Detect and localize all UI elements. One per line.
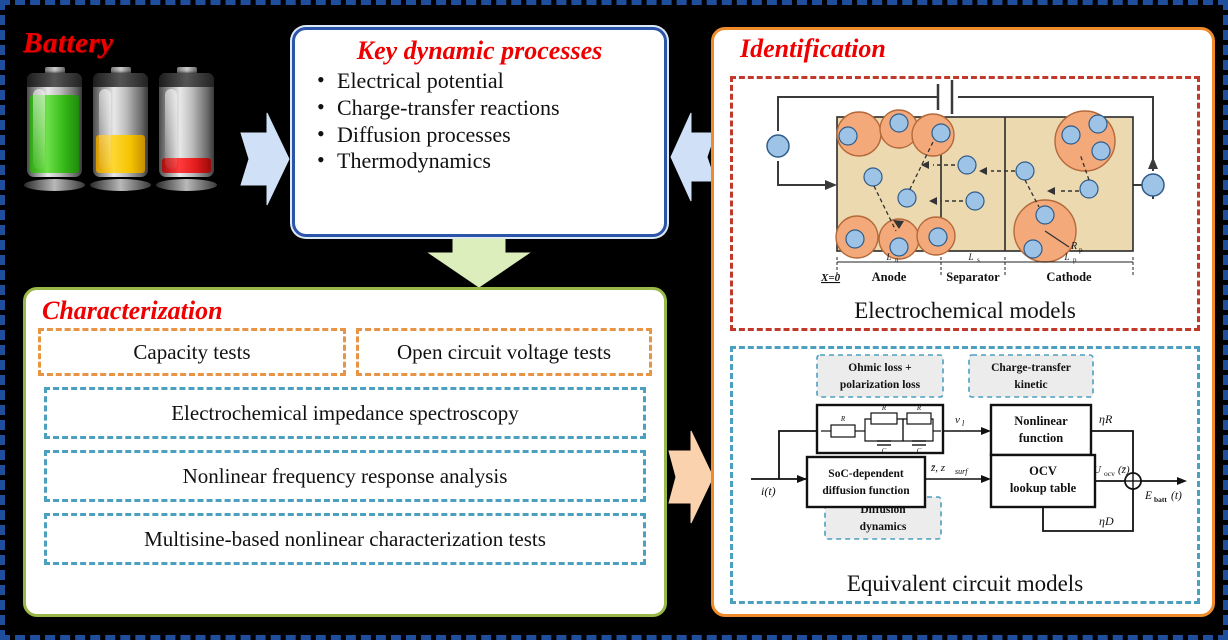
capacity-tests-box: Capacity tests: [38, 328, 346, 376]
battery-base: [156, 179, 217, 191]
equivalent-circuit-diagram: Ohmic loss + polarization loss Charge-tr…: [733, 349, 1197, 555]
list-item: Diffusion processes: [317, 122, 658, 149]
arrow-processes-to-characterization: [423, 237, 535, 289]
svg-text:(z̄): (z̄): [1118, 464, 1130, 476]
svg-text:L: L: [967, 252, 973, 262]
arrow-battery-to-processes: [237, 107, 293, 211]
key-dynamic-processes-list: Electrical potential Charge-transfer rea…: [295, 68, 664, 175]
nonlinear-function-line1: Nonlinear: [1014, 414, 1068, 428]
u-ocv-label: U: [1093, 464, 1102, 476]
origin-label: X=0: [820, 272, 841, 284]
svg-text:R: R: [881, 404, 887, 412]
full-battery-icon: [27, 67, 82, 185]
eta-d-label: ηD: [1099, 514, 1114, 528]
cathode-label: Cathode: [1046, 270, 1092, 284]
equivalent-circuit-models-caption: Equivalent circuit models: [733, 571, 1197, 597]
v-l-label: v: [955, 414, 960, 426]
svg-text:batt: batt: [1154, 495, 1167, 504]
soc-block-line2: diffusion function: [822, 485, 910, 497]
ocv-block-line1: OCV: [1029, 464, 1057, 478]
list-item: Charge-transfer reactions: [317, 95, 658, 122]
svg-text:C: C: [882, 447, 887, 455]
battery-base: [24, 179, 85, 191]
battery-shell: [159, 73, 214, 177]
z-surf-label: z̄, z: [930, 462, 946, 474]
svg-text:s: s: [977, 256, 980, 264]
eta-r-label: ηR: [1099, 412, 1113, 426]
ohmic-loss-line1: Ohmic loss +: [848, 362, 911, 374]
battery-top-band: [93, 73, 148, 87]
svg-text:l: l: [962, 419, 965, 428]
figure-canvas: Battery: [0, 0, 1228, 640]
key-dynamic-processes-panel: Key dynamic processes Electrical potenti…: [292, 27, 667, 237]
ocv-tests-box: Open circuit voltage tests: [356, 328, 652, 376]
svg-text:p: p: [1073, 256, 1077, 264]
list-item: Electrical potential: [317, 68, 658, 95]
svg-text:(t): (t): [1171, 490, 1182, 502]
svg-text:surf: surf: [955, 467, 969, 476]
svg-text:R: R: [916, 404, 922, 412]
multisine-box: Multisine-based nonlinear characterizati…: [44, 513, 646, 565]
charge-transfer-line1: Charge-transfer: [991, 362, 1071, 374]
svg-text:L: L: [885, 252, 891, 262]
radius-label-text: R: [1070, 241, 1077, 252]
nonlinear-function-line2: function: [1019, 431, 1064, 445]
diffusion-line2: dynamics: [860, 521, 907, 533]
soc-block-line1: SoC-dependent: [828, 468, 904, 480]
output-label: E: [1144, 490, 1152, 502]
characterization-panel: Characterization Capacity tests Open cir…: [23, 287, 667, 617]
electrochemical-models-caption: Electrochemical models: [733, 298, 1197, 324]
identification-panel: Identification: [711, 27, 1215, 617]
battery-title: Battery: [23, 27, 233, 60]
separator-label: Separator: [946, 270, 1000, 284]
battery-block: Battery: [23, 27, 233, 217]
svg-text:L: L: [1063, 252, 1069, 262]
half-battery-icon: [93, 67, 148, 185]
svg-text:n: n: [895, 256, 899, 264]
orange-test-row: Capacity tests Open circuit voltage test…: [38, 328, 652, 376]
charge-transfer-line2: kinetic: [1014, 379, 1047, 391]
electrochemical-model-box: R p L n L s L p X=0 Ano: [730, 76, 1200, 331]
battery-icons: [27, 67, 214, 185]
battery-gloss: [99, 89, 111, 169]
anode-label: Anode: [872, 270, 907, 284]
characterization-title: Characterization: [26, 290, 664, 328]
list-item: Thermodynamics: [317, 148, 658, 175]
svg-text:C: C: [917, 447, 922, 455]
battery-shell: [93, 73, 148, 177]
svg-text:p: p: [1079, 246, 1083, 254]
svg-text:R: R: [840, 415, 846, 423]
arrow-characterization-to-identification: [667, 425, 715, 529]
battery-gloss: [165, 89, 177, 169]
input-signal-label: i(t): [761, 484, 776, 498]
ocv-block-line2: lookup table: [1010, 481, 1077, 495]
battery-top-band: [159, 73, 214, 87]
nfra-box: Nonlinear frequency response analysis: [44, 450, 646, 502]
low-battery-icon: [159, 67, 214, 185]
svg-text:ocv: ocv: [1104, 469, 1115, 478]
equivalent-circuit-model-box: Ohmic loss + polarization loss Charge-tr…: [730, 346, 1200, 604]
battery-gloss: [33, 89, 45, 169]
battery-shell: [27, 73, 82, 177]
battery-top-band: [27, 73, 82, 87]
battery-base: [90, 179, 151, 191]
key-dynamic-processes-title: Key dynamic processes: [295, 36, 664, 66]
identification-title: Identification: [714, 30, 1212, 64]
ohmic-loss-line2: polarization loss: [840, 379, 921, 391]
eis-box: Electrochemical impedance spectroscopy: [44, 387, 646, 439]
electrochemical-model-diagram: R p L n L s L p X=0 Ano: [733, 79, 1197, 284]
